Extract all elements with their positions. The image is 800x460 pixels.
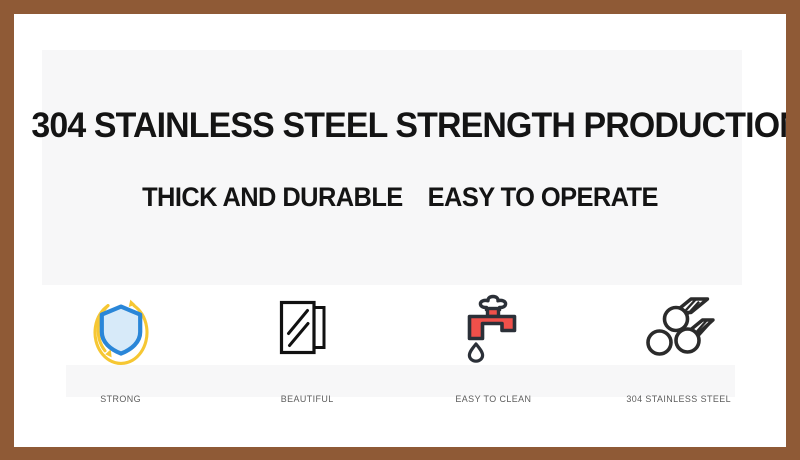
feature-item-strong: STRONG [28, 290, 214, 430]
subtitle-left: THICK AND DURABLE [142, 182, 403, 212]
feature-label-304-stainless-steel: 304 STAINLESS STEEL [627, 394, 732, 405]
feature-label-easy-to-clean: EASY TO CLEAN [455, 394, 531, 405]
page-title: 304 STAINLESS STEEL STRENGTH PRODUCTION [31, 108, 768, 144]
faucet-drop-icon [455, 290, 531, 368]
subtitle: THICK AND DURABLEEASY TO OPERATE [29, 184, 770, 211]
product-banner: 304 STAINLESS STEEL STRENGTH PRODUCTION … [0, 0, 800, 460]
feature-label-strong: STRONG [101, 394, 142, 405]
feature-item-beautiful: BEAUTIFUL [214, 290, 400, 430]
feature-item-easy-to-clean: EASY TO CLEAN [400, 290, 586, 430]
feature-list: STRONG BEAUTIFUL [28, 290, 772, 430]
headline-block: 304 STAINLESS STEEL STRENGTH PRODUCTION … [14, 50, 786, 285]
mirror-panel-icon [269, 290, 345, 368]
feature-label-beautiful: BEAUTIFUL [281, 394, 334, 405]
steel-pipes-icon [641, 290, 717, 368]
banner-canvas: 304 STAINLESS STEEL STRENGTH PRODUCTION … [14, 14, 786, 447]
feature-item-304-stainless-steel: 304 STAINLESS STEEL [586, 290, 772, 430]
shield-refresh-icon [83, 290, 159, 368]
subtitle-right: EASY TO OPERATE [428, 182, 658, 212]
